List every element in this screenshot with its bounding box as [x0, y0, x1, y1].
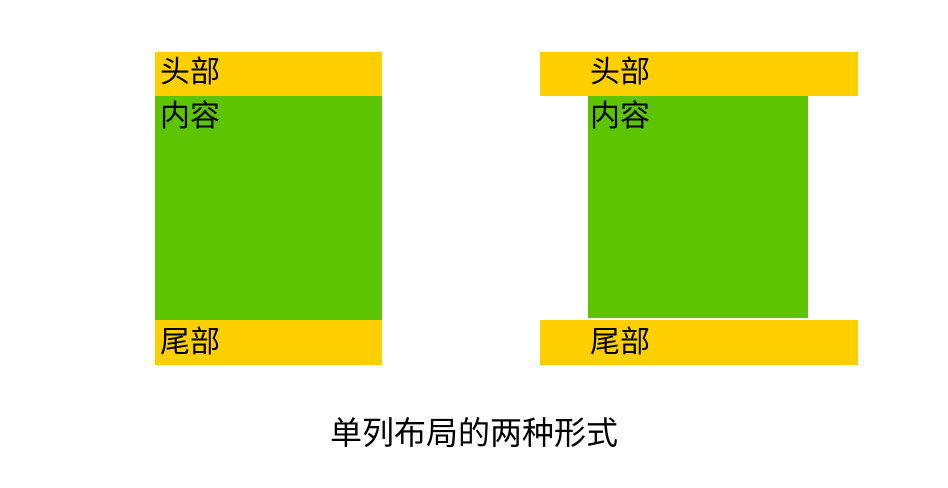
- figure-caption: 单列布局的两种形式: [0, 414, 948, 452]
- right-header-label: 头部: [540, 52, 858, 88]
- right-footer-block: 尾部: [540, 320, 858, 365]
- diagram-wide-header-footer: 头部 内容 尾部: [0, 0, 948, 400]
- right-header-block: 头部: [540, 52, 858, 96]
- right-content-block: 内容: [588, 96, 808, 318]
- right-content-label: 内容: [588, 96, 808, 132]
- right-footer-label: 尾部: [540, 320, 858, 358]
- figure-canvas: 头部 内容 尾部 头部 内容 尾部 单列布局的两种形式: [0, 0, 948, 488]
